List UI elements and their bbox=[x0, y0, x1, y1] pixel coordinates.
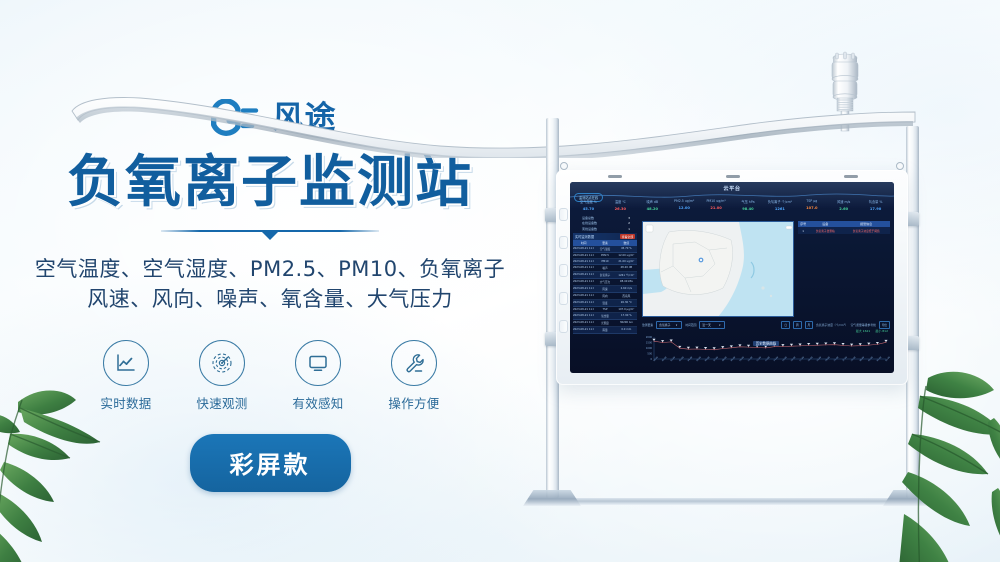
table-row[interactable]: 2023-08-21 11:00:00 大气压力 98.40 kPa bbox=[573, 279, 637, 286]
column-header: 序号 bbox=[798, 221, 808, 227]
device-stat-row: 离线设备数 1 bbox=[576, 226, 636, 232]
device-stat-value: 3 bbox=[628, 216, 630, 220]
export-button[interactable]: 导出 bbox=[879, 321, 890, 328]
kpi-label: 气压 hPa bbox=[733, 199, 764, 204]
radar-sensor-icon bbox=[210, 351, 234, 375]
product-banner: 风途 负氧离子监测站 空气温度、空气湿度、PM2.5、PM10、负氧离子 风速、… bbox=[0, 0, 1000, 562]
bezel-vent bbox=[608, 175, 622, 178]
kpi-row: 空气湿度 % 45.70 温度 ℃ 26.30 噪声 dB 48.20 PM2.… bbox=[573, 199, 891, 211]
alarm-column-headers: 序号 设备 报警信息 bbox=[798, 221, 890, 227]
column-header: 时间 bbox=[573, 241, 594, 245]
wave-canopy bbox=[10, 88, 980, 158]
kpi-value: 1261 bbox=[764, 207, 795, 211]
foliage-left bbox=[0, 342, 160, 562]
select-value: 负氧离子 bbox=[659, 323, 670, 327]
feature-item-effective-sensing[interactable]: 有效感知 bbox=[287, 340, 349, 412]
svg-text:500: 500 bbox=[647, 353, 652, 356]
alarm-row[interactable]: 1 负氧离子监测站 负氧离子浓度低于阈值 bbox=[798, 227, 890, 234]
table-row[interactable]: 2023-08-21 11:00:00 风速 2.60 m/s bbox=[573, 286, 637, 293]
kpi-label: 空气湿度 % bbox=[573, 199, 604, 204]
range-chip-week[interactable]: 周 bbox=[793, 321, 802, 328]
kpi-label: 风速 m/s bbox=[828, 199, 859, 204]
column-header: 设备 bbox=[808, 221, 842, 227]
chart-title-wrap: 历史数据曲线 bbox=[642, 329, 890, 348]
chevron-down-icon: ▾ bbox=[676, 324, 677, 327]
kpi-label: TSP µg bbox=[796, 199, 827, 203]
table-row[interactable]: 2023-08-21 11:00:00 噪声 48.20 dB bbox=[573, 265, 637, 272]
kpi-label: PM2.5 ug/m³ bbox=[669, 199, 700, 203]
subtitle-line-1: 空气温度、空气湿度、PM2.5、PM10、负氧离子 bbox=[35, 255, 505, 285]
kpi-value: 21.00 bbox=[701, 206, 732, 210]
kpi-label: 温度 ℃ bbox=[605, 199, 636, 204]
table-row[interactable]: 2023-08-21 11:00:00 光照度 36200 lux bbox=[573, 320, 637, 327]
display-screen[interactable]: 云平台 监测站点在线 空气湿度 % 45.70 温度 ℃ 26.30 bbox=[570, 182, 894, 373]
feature-ring bbox=[391, 340, 437, 386]
feature-label: 快速观测 bbox=[191, 393, 253, 412]
kpi-cell: 温度 ℃ 26.30 bbox=[605, 199, 636, 211]
feature-ring bbox=[199, 340, 245, 386]
kpi-cell: PM2.5 ug/m³ 12.00 bbox=[669, 199, 700, 211]
element-select[interactable]: 负氧离子 ▾ bbox=[656, 321, 682, 329]
title-divider bbox=[161, 227, 379, 241]
device-stat-label: 离线设备数 bbox=[582, 227, 597, 231]
view-all-badge[interactable]: 查看全部 bbox=[620, 234, 635, 239]
kpi-cell: 空气湿度 % 45.70 bbox=[573, 199, 604, 211]
cloud-platform-dashboard: 云平台 监测站点在线 空气湿度 % 45.70 温度 ℃ 26.30 bbox=[570, 182, 894, 373]
feature-item-easy-operation[interactable]: 操作方便 bbox=[383, 340, 445, 412]
table-heading: 实时监测数据 bbox=[575, 234, 594, 239]
kpi-label: PM10 ug/m³ bbox=[701, 199, 732, 203]
table-row[interactable]: 2023-08-21 11:00:00 风向 西南风 bbox=[573, 293, 637, 300]
kpi-value: 48.20 bbox=[637, 207, 668, 211]
table-header-bar: 实时监测数据 查看全部 bbox=[573, 233, 637, 240]
feature-item-fast-observation[interactable]: 快速观测 bbox=[191, 340, 253, 412]
map-graphic bbox=[643, 222, 794, 317]
table-row[interactable]: 2023-08-21 11:00:00 负氧离子 1261 个/cm³ bbox=[573, 272, 637, 279]
column-header: 要素 bbox=[594, 241, 615, 245]
realtime-data-table[interactable]: 实时监测数据 查看全部 时间 要素 数值 2023-08-21 11:00:00… bbox=[573, 233, 637, 334]
kpi-cell: 风速 m/s 2.60 bbox=[828, 199, 859, 211]
chart-controls: 监测要素 负氧离子 ▾ 时间范围 近一天 ▾ 日 周 月 bbox=[642, 321, 890, 329]
table-row[interactable]: 2023-08-21 11:00:00 温度 26.30 ℃ bbox=[573, 300, 637, 307]
alarm-panel[interactable]: 序号 设备 报警信息 1 负氧离子监测站 负氧离子浓度低于阈值 bbox=[798, 221, 890, 234]
kpi-value: 45.70 bbox=[573, 207, 604, 211]
table-row[interactable]: 2023-08-21 11:00:00 空气湿度 45.70 % bbox=[573, 246, 637, 253]
chevron-down-icon: ▾ bbox=[719, 324, 720, 327]
kpi-cell: 氧含量 % 17.90 bbox=[860, 199, 891, 211]
kpi-cell: 负氧离子 个/cm³ 1261 bbox=[764, 199, 795, 211]
side-vent-notch bbox=[559, 320, 568, 333]
column-header: 报警信息 bbox=[842, 221, 890, 227]
chart-readout-min: 最小 812 bbox=[875, 329, 888, 333]
kpi-value: 107.0 bbox=[796, 206, 827, 210]
kpi-cell: 噪声 dB 48.20 bbox=[637, 199, 668, 211]
select-label-element: 监测要素 bbox=[642, 323, 653, 327]
bezel-vent bbox=[726, 175, 740, 178]
wrench-icon bbox=[402, 351, 426, 375]
kpi-cell: PM10 ug/m³ 21.00 bbox=[701, 199, 732, 211]
select-label-range: 时间范围 bbox=[685, 323, 696, 327]
feature-label: 操作方便 bbox=[383, 393, 445, 412]
history-line-chart: 历史数据曲线 最大 1621 最小 812 050010001500200000… bbox=[642, 329, 890, 371]
cabinet-mount-ring-right bbox=[896, 162, 904, 170]
table-row[interactable]: 2023-08-21 11:00:00 雨量 0.0 mm bbox=[573, 327, 637, 334]
feature-label: 有效感知 bbox=[287, 393, 349, 412]
cabinet-mount-ring-left bbox=[560, 162, 568, 170]
monitor-screen-icon bbox=[306, 351, 330, 375]
kpi-label: 负氧离子 个/cm³ bbox=[764, 199, 795, 204]
color-screen-model-button[interactable]: 彩屏款 bbox=[190, 434, 351, 492]
device-stat-label: 设备总数 bbox=[582, 216, 594, 220]
table-row[interactable]: 2023-08-21 11:00:00 氧含量 17.90 % bbox=[573, 313, 637, 320]
side-vent-notch bbox=[559, 236, 568, 249]
side-vent-notch bbox=[559, 292, 568, 305]
device-stat-list: 设备总数 3 在线设备数 2 离线设备数 1 bbox=[576, 215, 636, 232]
kpi-label: 氧含量 % bbox=[860, 199, 891, 204]
device-stat-value: 2 bbox=[628, 221, 630, 225]
chart-readouts: 最大 1621 最小 812 bbox=[856, 329, 888, 333]
chart-title: 历史数据曲线 bbox=[753, 341, 779, 346]
divider-triangle-icon bbox=[261, 231, 279, 240]
china-region-map[interactable] bbox=[642, 221, 794, 317]
side-vent-notch bbox=[559, 208, 568, 221]
kpi-cell: 气压 hPa 98.40 bbox=[733, 199, 764, 211]
device-stat-value: 1 bbox=[628, 227, 630, 231]
kpi-label: 噪声 dB bbox=[637, 199, 668, 204]
kpi-value: 17.90 bbox=[860, 207, 891, 211]
range-select[interactable]: 近一天 ▾ bbox=[699, 321, 725, 329]
kpi-value: 2.60 bbox=[828, 207, 859, 211]
feature-ring bbox=[295, 340, 341, 386]
kpi-cell: TSP µg 107.0 bbox=[796, 199, 827, 211]
range-chip-month[interactable]: 月 bbox=[805, 321, 814, 328]
column-header: 数值 bbox=[616, 241, 637, 245]
legend-secondary: 空气质量等级参考线 bbox=[851, 323, 876, 327]
chart-readout-max: 最大 1621 bbox=[856, 329, 871, 333]
select-value: 近一天 bbox=[702, 323, 710, 327]
page-title: 负氧离子监测站 bbox=[67, 152, 473, 215]
range-chip-day[interactable]: 日 bbox=[781, 321, 790, 328]
bezel-vent bbox=[844, 175, 858, 178]
kpi-value: 26.30 bbox=[605, 207, 636, 211]
kpi-value: 98.40 bbox=[733, 207, 764, 211]
legend-primary: 负氧离子浓度（个/cm³） bbox=[816, 323, 848, 327]
subtitle-line-2: 风速、风向、噪声、氧含量、大气压力 bbox=[35, 285, 505, 315]
side-vent-notch bbox=[559, 264, 568, 277]
foliage-right bbox=[854, 338, 1000, 562]
kpi-value: 12.00 bbox=[669, 206, 700, 210]
device-stat-label: 在线设备数 bbox=[582, 221, 597, 225]
subtitle-block: 空气温度、空气湿度、PM2.5、PM10、负氧离子 风速、风向、噪声、氧含量、大… bbox=[35, 255, 505, 315]
